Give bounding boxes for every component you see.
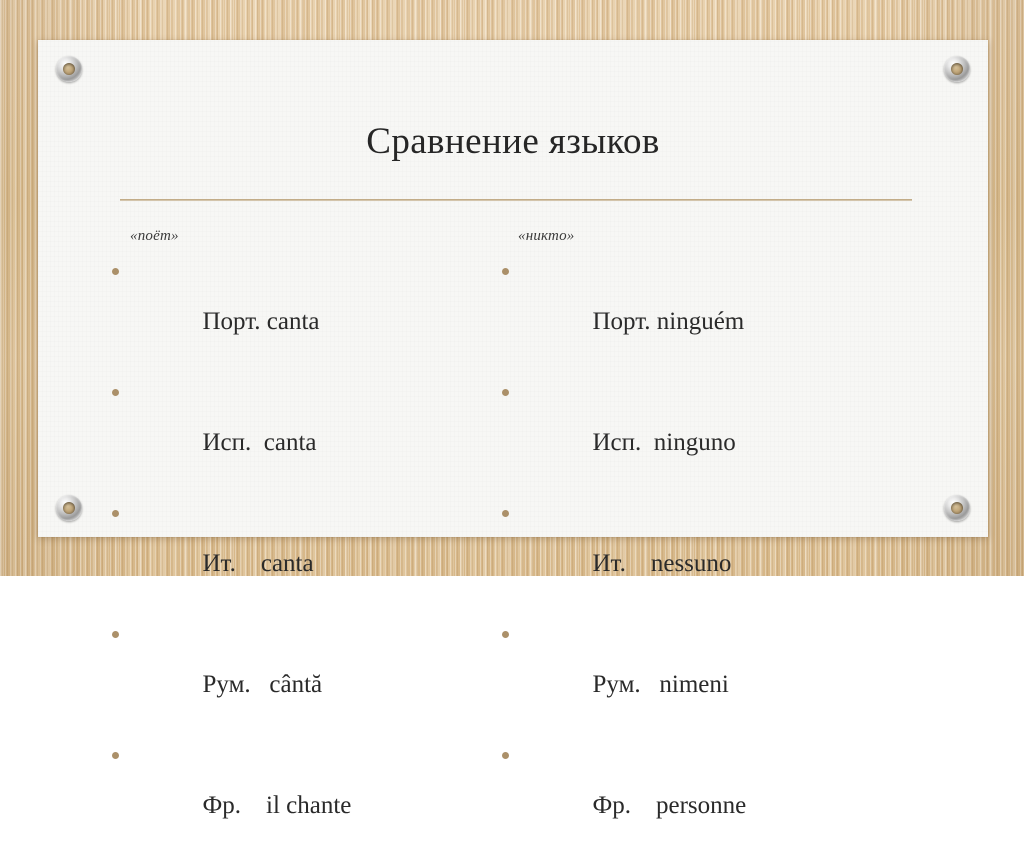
- list-item: Исп. ninguno: [498, 380, 918, 480]
- bullet-dot-icon: [112, 752, 119, 759]
- slide-card: Сравнение языков «поёт» Порт. canta Исп.…: [38, 40, 988, 537]
- list-item: Фр. personne: [498, 743, 918, 843]
- list-item: Ит. nessuno: [498, 501, 918, 601]
- bullet-dot-icon: [502, 389, 509, 396]
- slide-title: Сравнение языков: [38, 122, 988, 163]
- list-item-label: Порт. ninguém: [593, 308, 745, 335]
- bullet-dot-icon: [502, 631, 509, 638]
- list-item-label: Фр. il chante: [203, 792, 352, 819]
- column-heading-nikto: «никто»: [498, 228, 918, 245]
- bullet-dot-icon: [502, 268, 509, 275]
- bullet-dot-icon: [112, 510, 119, 517]
- title-divider: [120, 199, 912, 201]
- list-item-label: Ит. nessuno: [593, 550, 732, 577]
- bullet-list-nikto: Порт. ninguém Исп. ninguno Ит. nessuno Р…: [498, 259, 918, 843]
- list-item-label: Исп. canta: [203, 429, 317, 456]
- columns-container: «поёт» Порт. canta Исп. canta Ит. canta …: [38, 228, 988, 843]
- list-item: Рум. cântă: [108, 622, 438, 722]
- bullet-dot-icon: [502, 510, 509, 517]
- bullet-dot-icon: [112, 268, 119, 275]
- bullet-dot-icon: [112, 389, 119, 396]
- column-heading-poet: «поёт»: [108, 228, 438, 245]
- bullet-list-poet: Порт. canta Исп. canta Ит. canta Рум. câ…: [108, 259, 438, 843]
- list-item: Исп. canta: [108, 380, 438, 480]
- bullet-dot-icon: [112, 631, 119, 638]
- column-nikto: «никто» Порт. ninguém Исп. ninguno Ит. n…: [438, 228, 918, 843]
- list-item-label: Порт. canta: [203, 308, 320, 335]
- list-item: Фр. il chante: [108, 743, 438, 843]
- list-item: Порт. canta: [108, 259, 438, 359]
- list-item-label: Фр. personne: [593, 792, 747, 819]
- column-poet: «поёт» Порт. canta Исп. canta Ит. canta …: [38, 228, 438, 843]
- screw-top-left-icon: [56, 56, 82, 82]
- list-item-label: Рум. cântă: [203, 671, 323, 698]
- list-item: Ит. canta: [108, 501, 438, 601]
- list-item: Рум. nimeni: [498, 622, 918, 722]
- bullet-dot-icon: [502, 752, 509, 759]
- screw-top-right-icon: [944, 56, 970, 82]
- list-item-label: Исп. ninguno: [593, 429, 736, 456]
- list-item-label: Рум. nimeni: [593, 671, 729, 698]
- list-item-label: Ит. canta: [203, 550, 314, 577]
- list-item: Порт. ninguém: [498, 259, 918, 359]
